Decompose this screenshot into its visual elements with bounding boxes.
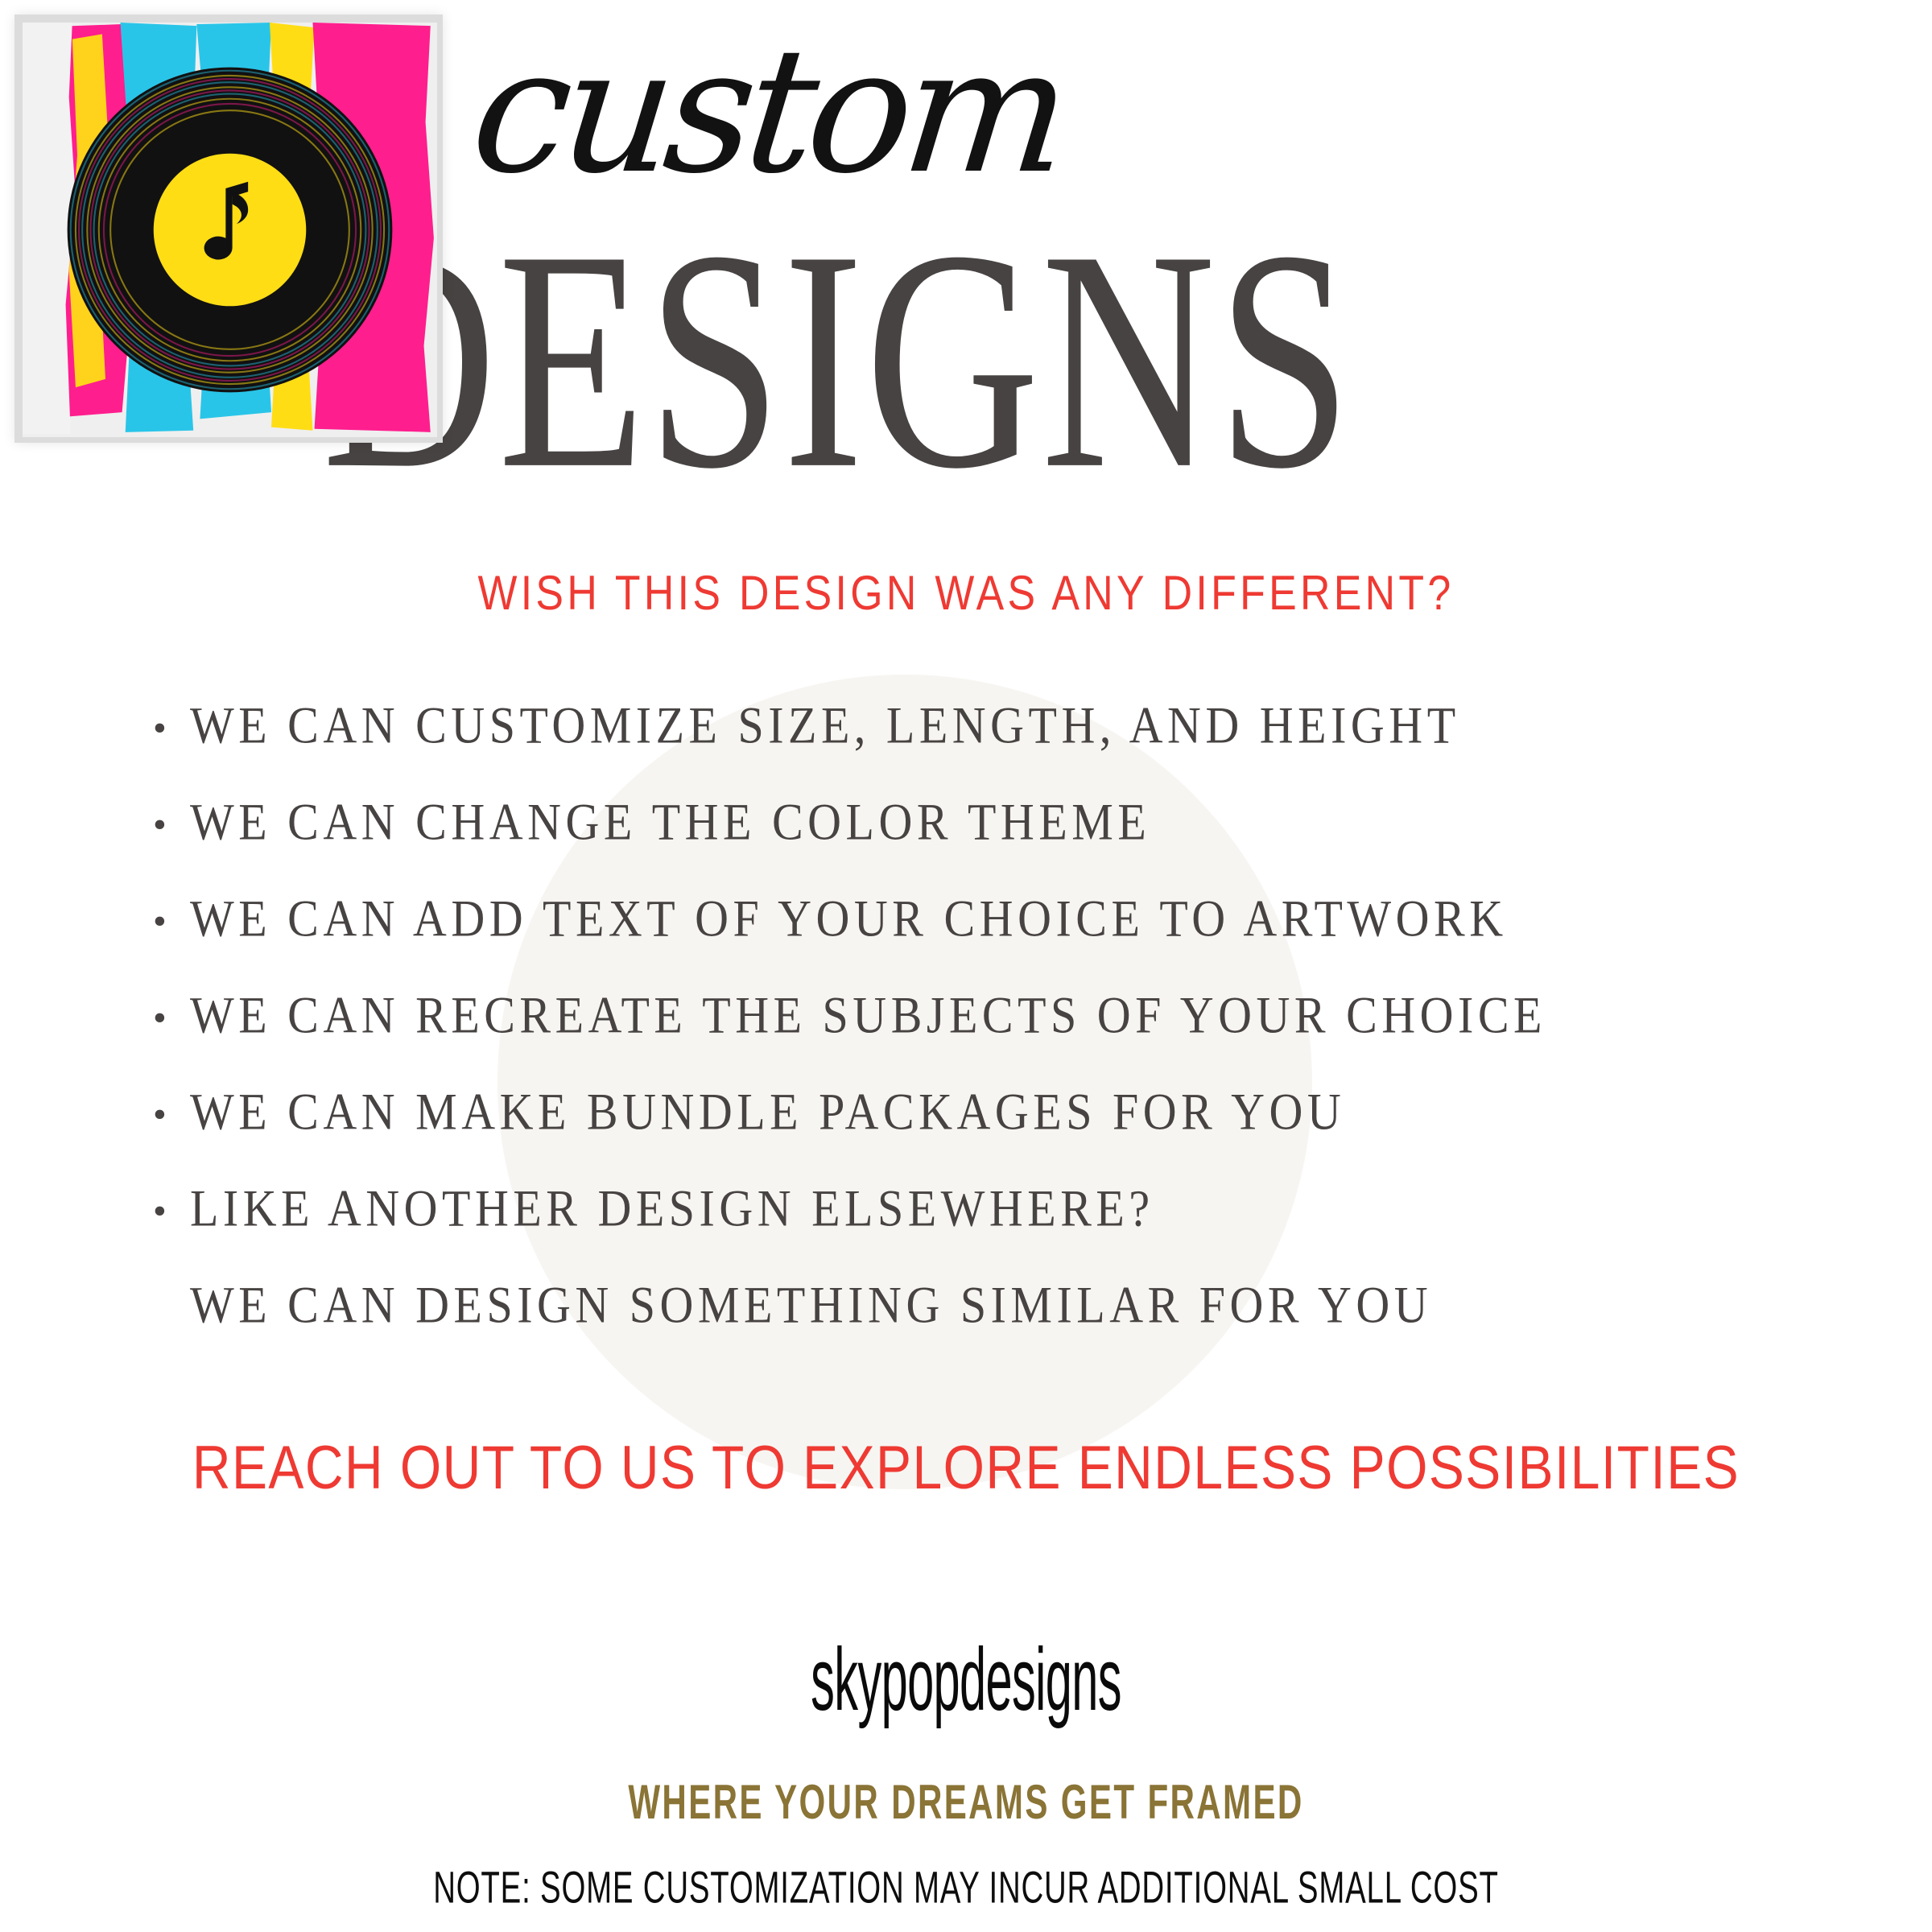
list-item-label: WE CAN CHANGE THE COLOR THEME — [190, 796, 1150, 848]
footer-note: NOTE: SOME CUSTOMIZATION MAY INCUR ADDIT… — [193, 1863, 1739, 1913]
headline-block: custom DESIGNS — [451, 24, 1900, 434]
brand-name: skypopdesigns — [367, 1629, 1565, 1732]
list-item-label: LIKE ANOTHER DESIGN ELSEWHERE? — [190, 1183, 1154, 1235]
bullet-marker-icon: • — [153, 709, 190, 748]
list-item: • WE CAN CHANGE THE COLOR THEME — [153, 799, 1811, 860]
list-item-label: WE CAN MAKE BUNDLE PACKAGES FOR YOU — [190, 1086, 1345, 1138]
pop-art-vinyl-record-icon — [23, 23, 437, 437]
bullet-marker-icon: • — [153, 999, 190, 1038]
list-item-label: WE CAN CUSTOMIZE SIZE, LENGTH, AND HEIGH… — [190, 700, 1460, 752]
list-item: • WE CAN CUSTOMIZE SIZE, LENGTH, AND HEI… — [153, 702, 1811, 763]
brand-tagline: WHERE YOUR DREAMS GET FRAMED — [213, 1774, 1719, 1830]
page-title: DESIGNS — [322, 221, 1900, 497]
artwork-image — [23, 23, 437, 437]
call-to-action-text: REACH OUT TO US TO EXPLORE ENDLESS POSSI… — [29, 1432, 1903, 1502]
subtitle: WISH THIS DESIGN WAS ANY DIFFERENT? — [39, 565, 1893, 621]
script-title: custom — [465, 24, 1918, 197]
artwork-thumbnail[interactable] — [14, 14, 443, 443]
bullet-marker-icon: • — [153, 806, 190, 844]
list-item-continuation: WE CAN DESIGN SOMETHING SIMILAR FOR YOU — [190, 1279, 1811, 1331]
list-item-label: WE CAN RECREATE THE SUBJECTS OF YOUR CHO… — [190, 989, 1546, 1042]
list-item: • WE CAN RECREATE THE SUBJECTS OF YOUR C… — [153, 992, 1811, 1053]
feature-list: • WE CAN CUSTOMIZE SIZE, LENGTH, AND HEI… — [153, 702, 1811, 1328]
bullet-marker-icon: • — [153, 902, 190, 941]
list-item: • WE CAN ADD TEXT OF YOUR CHOICE TO ARTW… — [153, 895, 1811, 956]
bullet-marker-icon: • — [153, 1192, 190, 1231]
list-item: • WE CAN MAKE BUNDLE PACKAGES FOR YOU — [153, 1088, 1811, 1150]
list-item-label: WE CAN ADD TEXT OF YOUR CHOICE TO ARTWOR… — [190, 893, 1508, 945]
bullet-marker-icon: • — [153, 1096, 190, 1134]
list-item: • LIKE ANOTHER DESIGN ELSEWHERE? — [153, 1185, 1811, 1246]
